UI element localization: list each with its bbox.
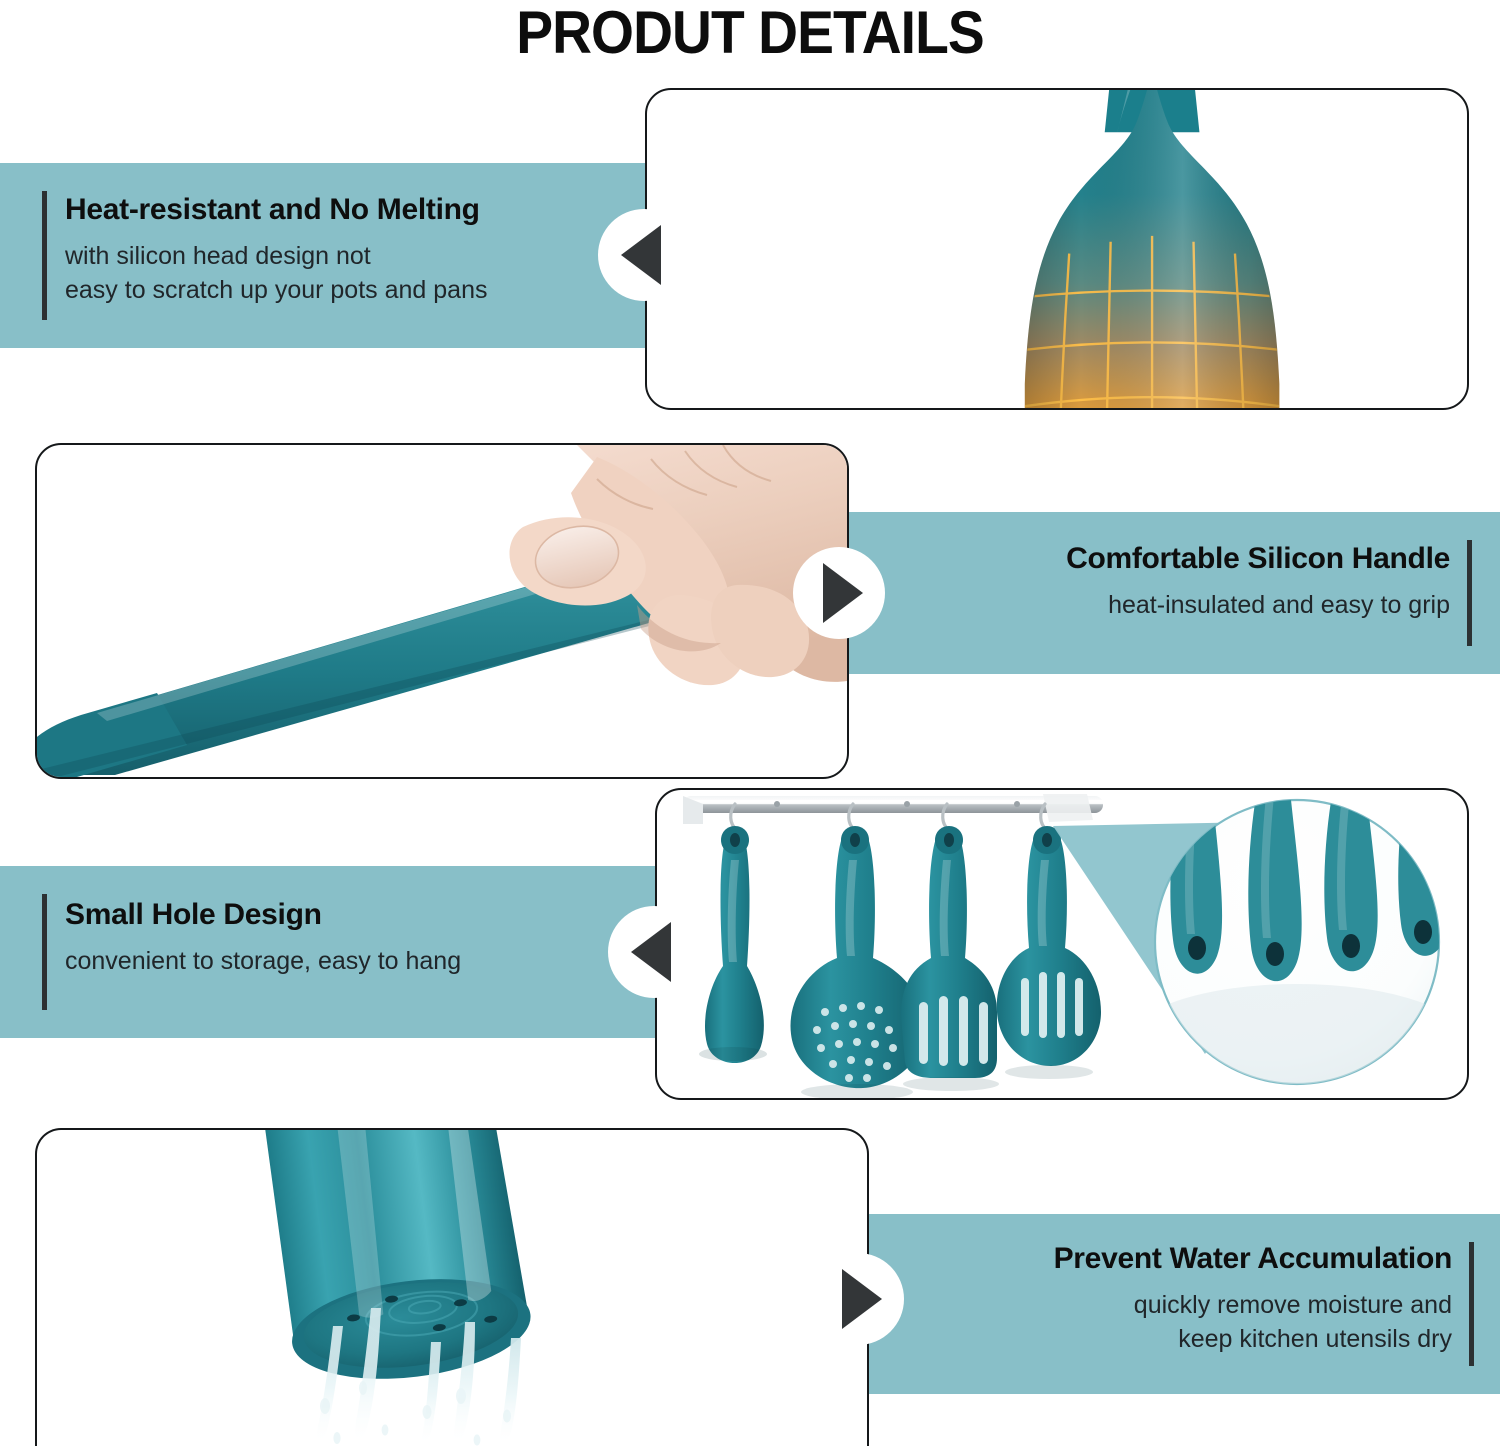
arrow-bubble-comfortable-handle[interactable] (793, 547, 885, 639)
feature-subtext-prevent-water-line2: keep kitchen utensils dry (915, 1323, 1452, 1355)
feature-card-comfortable-handle (35, 443, 849, 779)
arrow-bubble-heat-resistant[interactable] (598, 209, 690, 301)
page-title: PRODUT DETAILS (60, 0, 1440, 67)
arrow-bubble-small-hole-design[interactable] (608, 906, 700, 998)
feature-heading-heat-resistant: Heat-resistant and No Melting (65, 193, 630, 228)
feature-card-small-hole-design (655, 788, 1469, 1100)
accent-bar (42, 191, 47, 320)
spatula-head-heat-gradient-image (647, 90, 1467, 408)
utensil-spatula (699, 826, 767, 1063)
arrow-left-icon (631, 922, 671, 982)
feature-card-prevent-water (35, 1128, 869, 1446)
feature-band-small-hole-design: Small Hole Design convenient to storage,… (0, 866, 660, 1038)
hanging-utensils-image (657, 790, 1467, 1098)
feature-subtext-heat-resistant-line2: easy to scratch up your pots and pans (65, 274, 630, 306)
feature-heading-comfortable-handle: Comfortable Silicon Handle (900, 542, 1450, 577)
feature-heading-small-hole-design: Small Hole Design (65, 898, 640, 933)
feature-subtext-heat-resistant-line1: with silicon head design not (65, 240, 630, 272)
arrow-right-icon (842, 1269, 882, 1329)
feature-subtext-small-hole-design-line1: convenient to storage, easy to hang (65, 945, 640, 977)
utensil-slotted-turner (901, 826, 999, 1091)
accent-bar (1469, 1242, 1474, 1366)
hand-holding-handle-image (37, 445, 847, 777)
arrow-right-icon (823, 563, 863, 623)
feature-band-prevent-water: Prevent Water Accumulation quickly remov… (860, 1214, 1500, 1394)
feature-card-heat-resistant (645, 88, 1469, 410)
feature-subtext-comfortable-handle-line1: heat-insulated and easy to grip (900, 589, 1450, 621)
feature-band-heat-resistant: Heat-resistant and No Melting with silic… (0, 163, 650, 348)
feature-subtext-prevent-water-line1: quickly remove moisture and (915, 1289, 1452, 1321)
feature-band-comfortable-handle: Comfortable Silicon Handle heat-insulate… (840, 512, 1500, 674)
accent-bar (1467, 540, 1472, 646)
accent-bar (42, 894, 47, 1010)
arrow-bubble-prevent-water[interactable] (812, 1253, 904, 1345)
arrow-left-icon (621, 225, 661, 285)
draining-holder-image (37, 1130, 867, 1446)
feature-heading-prevent-water: Prevent Water Accumulation (915, 1242, 1452, 1277)
